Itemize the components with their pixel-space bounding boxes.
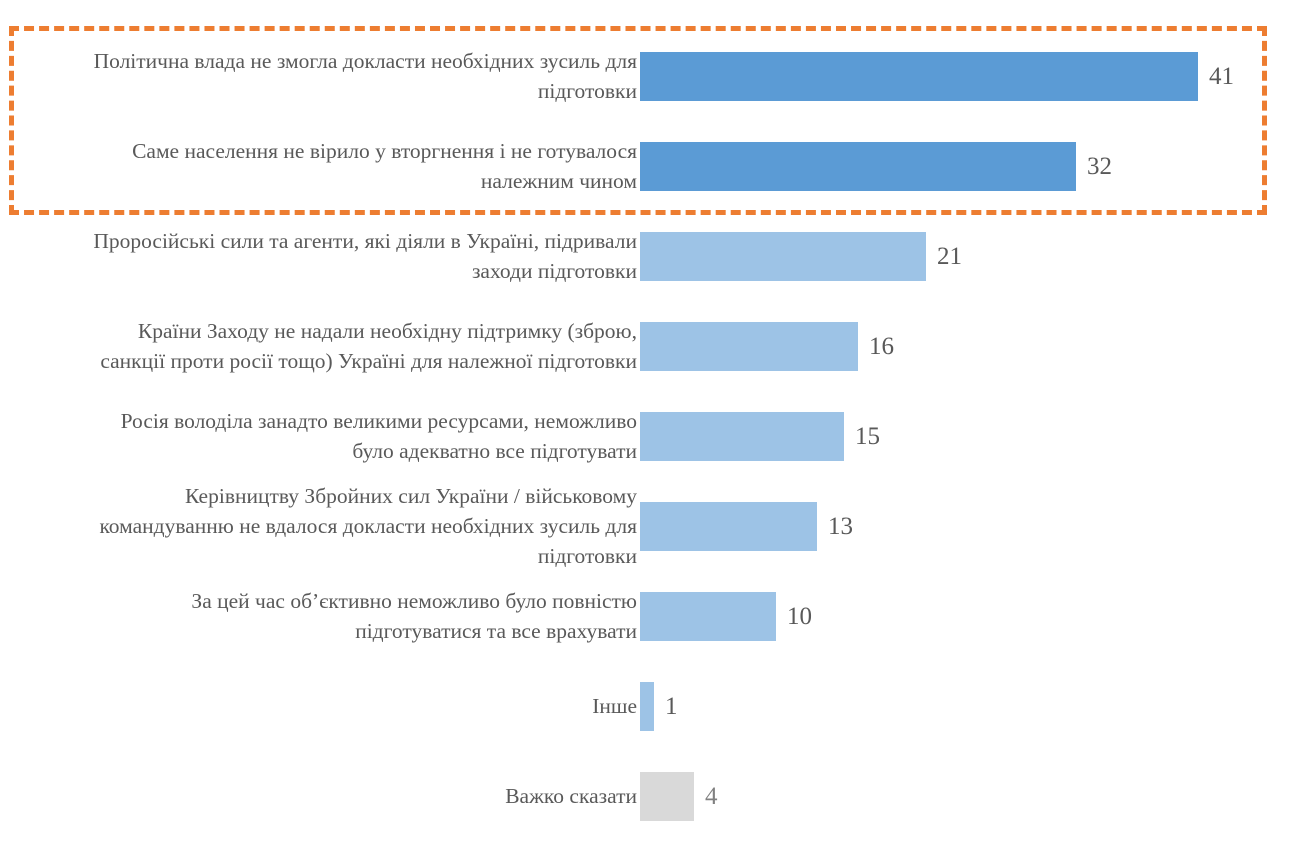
bar-row: Саме населення не вірило у вторгнення і … xyxy=(0,121,1294,211)
bar-value-label: 15 xyxy=(855,424,880,449)
bar-value-label: 10 xyxy=(787,604,812,629)
bar-area: 10 xyxy=(640,571,1294,661)
bar-value-label: 41 xyxy=(1209,64,1234,89)
category-label: За цей час об’єктивно неможливо було пов… xyxy=(0,586,640,646)
category-label: Проросійські сили та агенти, які діяли в… xyxy=(0,226,640,286)
bar xyxy=(640,322,858,371)
category-label: Політична влада не змогла докласти необх… xyxy=(0,46,640,106)
bar-row: Країни Заходу не надали необхідну підтри… xyxy=(0,301,1294,391)
bar-row: За цей час об’єктивно неможливо було пов… xyxy=(0,571,1294,661)
category-label: Росія володіла занадто великими ресурсам… xyxy=(0,406,640,466)
bar xyxy=(640,592,776,641)
bar xyxy=(640,772,694,821)
bar-row: Політична влада не змогла докласти необх… xyxy=(0,31,1294,121)
category-label: Країни Заходу не надали необхідну підтри… xyxy=(0,316,640,376)
bar xyxy=(640,412,844,461)
bar-value-label: 1 xyxy=(665,694,678,719)
bar xyxy=(640,502,817,551)
bar-value-label: 32 xyxy=(1087,154,1112,179)
bar-area: 16 xyxy=(640,301,1294,391)
bar-area: 1 xyxy=(640,661,1294,751)
bar xyxy=(640,682,654,731)
bar-row: Проросійські сили та агенти, які діяли в… xyxy=(0,211,1294,301)
category-label: Саме населення не вірило у вторгнення і … xyxy=(0,136,640,196)
bar-row: Росія володіла занадто великими ресурсам… xyxy=(0,391,1294,481)
bar-row: Керівництву Збройних сил України / війсь… xyxy=(0,481,1294,571)
horizontal-bar-chart: Політична влада не змогла докласти необх… xyxy=(0,0,1294,860)
bar-area: 32 xyxy=(640,121,1294,211)
bar-value-label: 4 xyxy=(705,784,718,809)
bar-area: 13 xyxy=(640,481,1294,571)
bar-value-label: 16 xyxy=(869,334,894,359)
bar xyxy=(640,232,926,281)
category-label: Керівництву Збройних сил України / війсь… xyxy=(0,481,640,571)
bar xyxy=(640,142,1076,191)
bar-area: 4 xyxy=(640,751,1294,841)
bar-area: 41 xyxy=(640,31,1294,121)
bar-row: Інше1 xyxy=(0,661,1294,751)
bar-row: Важко сказати4 xyxy=(0,751,1294,841)
category-label: Інше xyxy=(0,691,640,721)
bar-area: 15 xyxy=(640,391,1294,481)
bar-value-label: 21 xyxy=(937,244,962,269)
bar xyxy=(640,52,1198,101)
bar-area: 21 xyxy=(640,211,1294,301)
category-label: Важко сказати xyxy=(0,781,640,811)
bar-value-label: 13 xyxy=(828,514,853,539)
